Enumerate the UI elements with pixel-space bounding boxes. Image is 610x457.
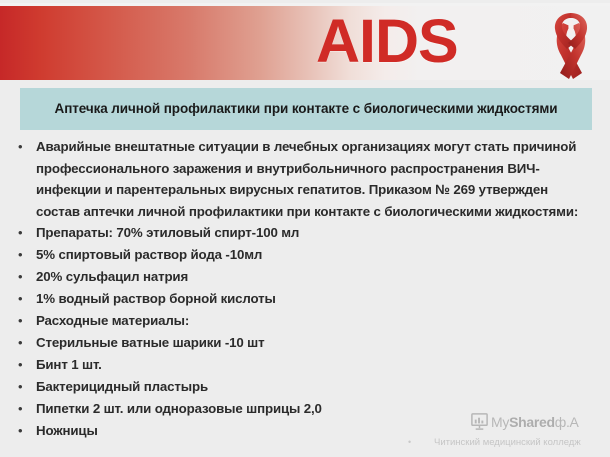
watermark-shared: Shared [509, 414, 555, 430]
slide-title-text: Аптечка личной профилактики при контакте… [41, 100, 572, 118]
list-item: • Расходные материалы: [0, 310, 610, 332]
bullet-marker-icon: • [14, 222, 36, 244]
list-item: • 20% сульфацил натрия [0, 266, 610, 288]
list-item: • Препараты: 70% этиловый спирт-100 мл [0, 222, 610, 244]
list-item-text: Аварийные внештатные ситуации в лечебных… [36, 136, 599, 222]
watermark-my: My [491, 414, 509, 430]
watermark-suffix: ф.А [555, 414, 579, 430]
bullet-marker-icon: • [14, 420, 36, 442]
footer-bullet-marker-icon: • [408, 436, 434, 449]
footer-credit: • Читинский медицинский колледж [408, 436, 581, 449]
myshared-watermark: MySharedф.А [470, 412, 579, 431]
list-item-text: 1% водный раствор борной кислоты [36, 288, 610, 310]
page-title-aids: AIDS [316, 5, 458, 77]
presentation-chart-icon [470, 412, 489, 431]
list-item-text: Препараты: 70% этиловый спирт-100 мл [36, 222, 610, 244]
header-top-edge [0, 3, 610, 6]
list-item-text: 20% сульфацил натрия [36, 266, 610, 288]
bullet-marker-icon: • [14, 244, 36, 266]
header-gradient-band: AIDS [0, 3, 610, 80]
list-item: • Аварийные внештатные ситуации в лечебн… [0, 136, 610, 222]
list-item: • 1% водный раствор борной кислоты [0, 288, 610, 310]
list-item: • Бактерицидный пластырь [0, 376, 610, 398]
bullet-marker-icon: • [14, 136, 36, 158]
footer-credit-text: Читинский медицинский колледж [434, 436, 581, 449]
bullet-list: • Аварийные внештатные ситуации в лечебн… [0, 136, 610, 442]
bullet-marker-icon: • [14, 288, 36, 310]
list-item-text: 5% спиртовый раствор йода -10мл [36, 244, 610, 266]
list-item-text: Расходные материалы: [36, 310, 610, 332]
slide-title-box: Аптечка личной профилактики при контакте… [20, 88, 592, 130]
bullet-marker-icon: • [14, 332, 36, 354]
list-item-text: Бактерицидный пластырь [36, 376, 610, 398]
list-item-text: Стерильные ватные шарики -10 шт [36, 332, 610, 354]
list-item: • Бинт 1 шт. [0, 354, 610, 376]
bullet-marker-icon: • [14, 376, 36, 398]
bullet-marker-icon: • [14, 354, 36, 376]
bullet-marker-icon: • [14, 266, 36, 288]
bullet-marker-icon: • [14, 398, 36, 420]
watermark-label: MySharedф.А [491, 414, 579, 430]
aids-ribbon-icon [543, 7, 599, 83]
bullet-marker-icon: • [14, 310, 36, 332]
slide-canvas: AIDS [0, 0, 610, 457]
list-item: • Стерильные ватные шарики -10 шт [0, 332, 610, 354]
list-item: • 5% спиртовый раствор йода -10мл [0, 244, 610, 266]
list-item-text: Бинт 1 шт. [36, 354, 610, 376]
